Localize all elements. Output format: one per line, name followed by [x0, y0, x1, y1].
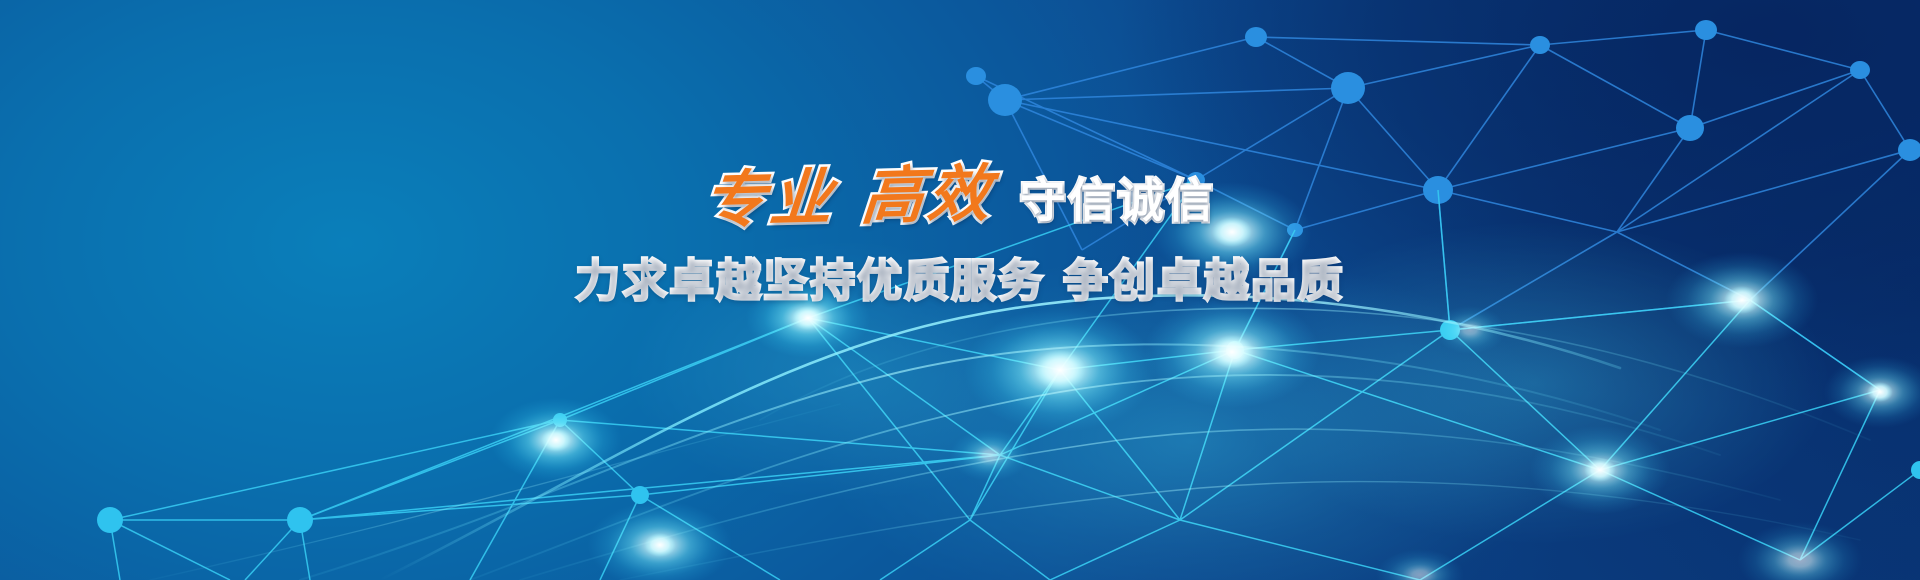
headline: 专业 高效 守信诚信: [0, 150, 1920, 228]
banner-text-block: 专业 高效 守信诚信 力求卓越坚持优质服务 争创卓越品质: [0, 150, 1920, 309]
headline-white-text: 守信诚信: [1020, 178, 1216, 224]
headline-accent-text: 专业 高效: [701, 162, 1022, 232]
promotional-banner: 专业 高效 守信诚信 力求卓越坚持优质服务 争创卓越品质: [0, 0, 1920, 580]
banner-subline: 力求卓越坚持优质服务 争创卓越品质: [0, 244, 1920, 309]
